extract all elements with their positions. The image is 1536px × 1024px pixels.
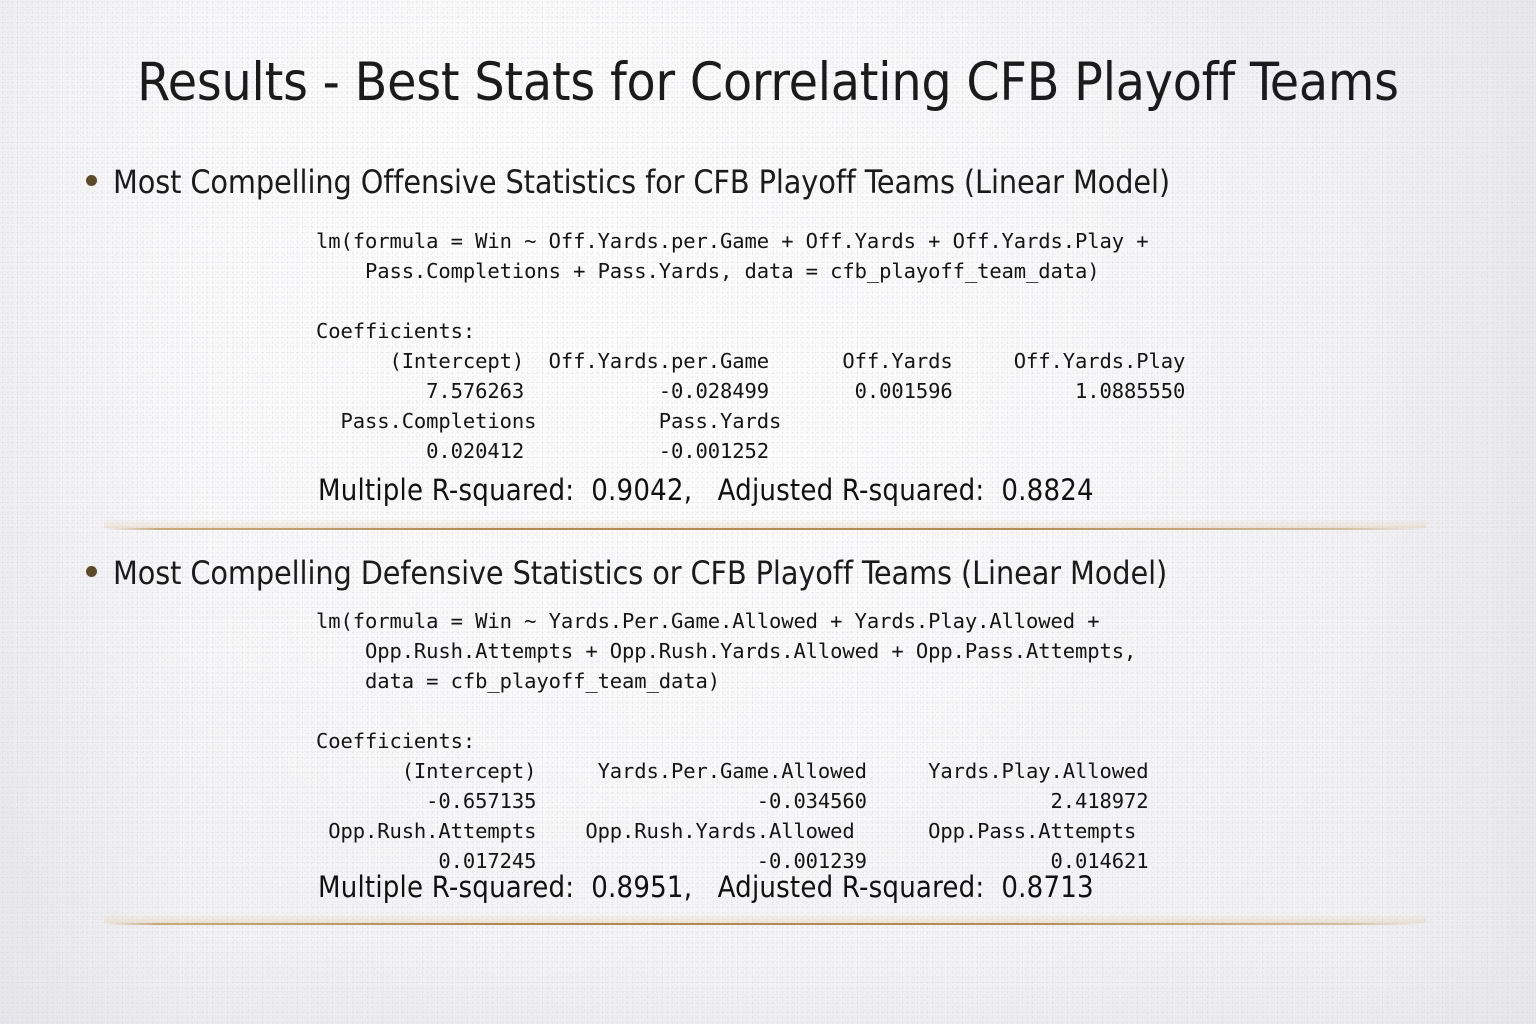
- page-title: Results - Best Stats for Correlating CFB…: [0, 52, 1536, 113]
- section-divider-middle: [104, 528, 1426, 530]
- bullet-item-label: Most Compelling Offensive Statistics for…: [113, 163, 1170, 201]
- bullet-item-label: Most Compelling Defensive Statistics or …: [113, 554, 1167, 592]
- r-squared-summary-defensive: Multiple R-squared: 0.8951, Adjusted R-s…: [318, 870, 1094, 904]
- bullet-dot-icon: [86, 175, 97, 186]
- bullet-item-defensive-statistics: Most Compelling Defensive Statistics or …: [86, 554, 1167, 592]
- r-output-offensive-model: lm(formula = Win ~ Off.Yards.per.Game + …: [316, 226, 1185, 466]
- slide-content: Results - Best Stats for Correlating CFB…: [0, 0, 1536, 1024]
- section-divider-bottom: [104, 923, 1426, 925]
- bullet-dot-icon: [86, 566, 97, 577]
- r-output-defensive-model: lm(formula = Win ~ Yards.Per.Game.Allowe…: [316, 606, 1148, 876]
- r-squared-summary-offensive: Multiple R-squared: 0.9042, Adjusted R-s…: [318, 473, 1094, 507]
- bullet-item-offensive-statistics: Most Compelling Offensive Statistics for…: [86, 163, 1170, 201]
